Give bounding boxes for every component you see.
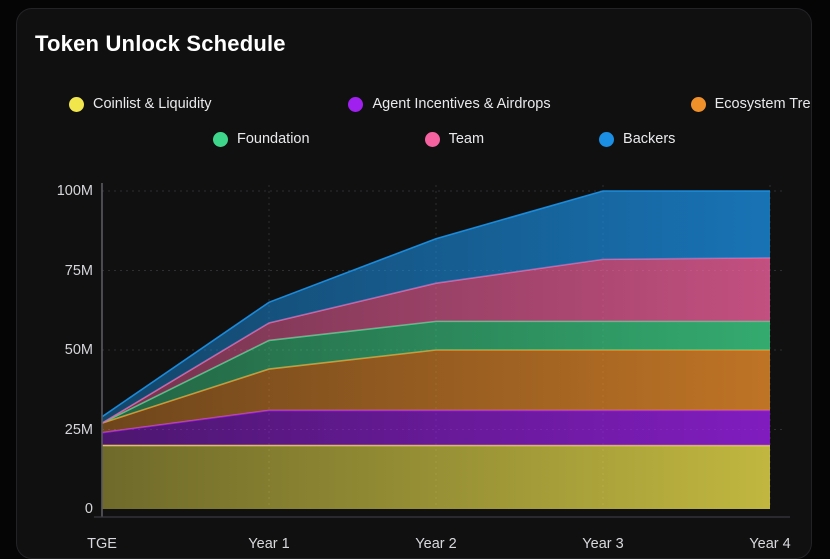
x-axis-tick-year-1: Year 1 (248, 536, 289, 552)
y-axis-tick-100M: 100M (57, 183, 93, 199)
token-unlock-card: Token Unlock Schedule Coinlist & Liquidi… (16, 8, 812, 559)
x-axis-tick-year-2: Year 2 (415, 536, 456, 552)
area-coinlist-liquidity (102, 445, 770, 509)
x-axis-tick-year-4: Year 4 (749, 536, 790, 552)
y-axis-tick-25M: 25M (65, 422, 93, 438)
y-axis-tick-75M: 75M (65, 263, 93, 279)
x-axis-tick-year-3: Year 3 (582, 536, 623, 552)
y-axis-tick-50M: 50M (65, 342, 93, 358)
chart-canvas (17, 9, 812, 559)
screenshot-root: Token Unlock Schedule Coinlist & Liquidi… (0, 0, 830, 559)
stacked-area-chart (17, 9, 812, 559)
y-axis-tick-labels: 025M50M75M100M (23, 9, 93, 559)
x-axis-tick-tge: TGE (87, 536, 117, 552)
y-axis-tick-0: 0 (85, 501, 93, 517)
